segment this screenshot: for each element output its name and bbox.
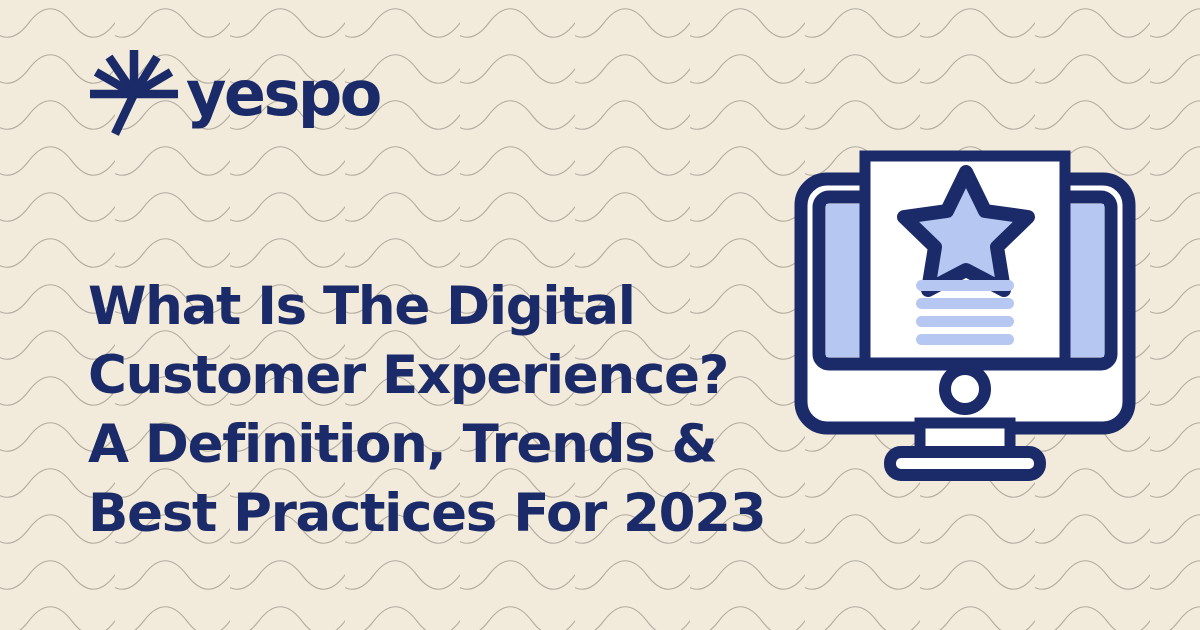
text-line-2 <box>916 298 1014 309</box>
headline-line-3: A Definition, Trends & <box>88 410 788 479</box>
text-line-1 <box>916 280 1014 291</box>
headline-line-1: What Is The Digital <box>88 272 788 341</box>
text-line-4 <box>916 334 1014 345</box>
webcam-dot-icon <box>945 369 985 409</box>
page-title: What Is The Digital Customer Experience?… <box>88 272 788 548</box>
brand-wordmark: yespo <box>186 63 380 125</box>
brand-logo[interactable]: yespo <box>88 46 380 138</box>
headline-line-4: Best Practices For 2023 <box>88 479 788 548</box>
text-line-3 <box>916 316 1014 327</box>
cover-canvas: yespo What Is The Digital Customer Exper… <box>0 0 1200 630</box>
headline-line-2: Customer Experience? <box>88 341 788 410</box>
hero-illustration <box>780 140 1150 490</box>
monitor-stand-base <box>890 452 1040 475</box>
yespo-starburst-logo-icon <box>88 46 180 138</box>
